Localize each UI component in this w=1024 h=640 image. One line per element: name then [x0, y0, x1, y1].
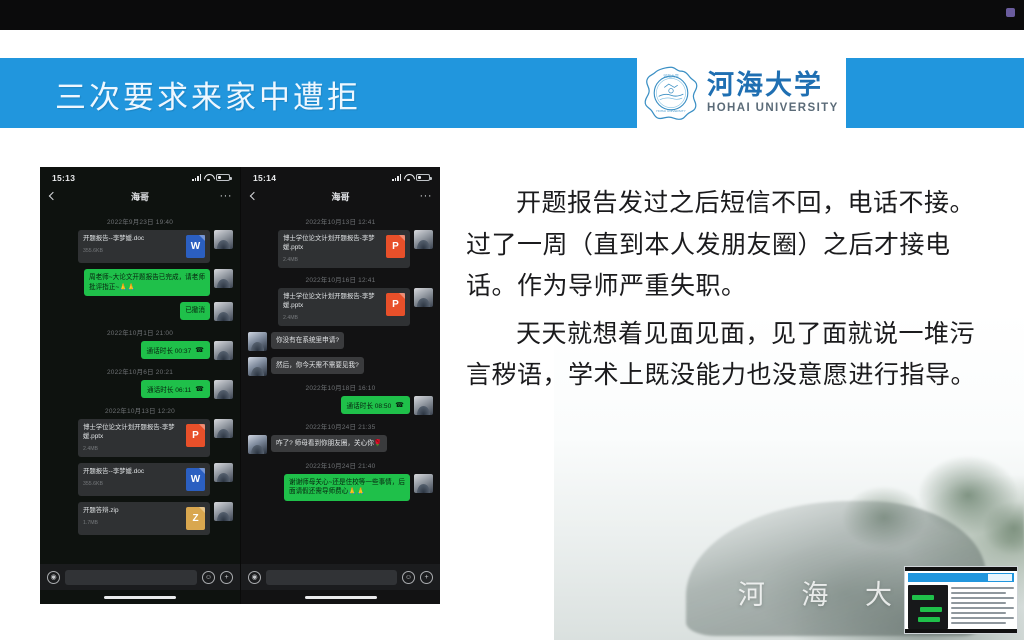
contact-name: 海哥 [241, 190, 440, 203]
avatar [248, 435, 267, 454]
avatar [214, 463, 233, 482]
message-bubble-received[interactable]: 咋了? 师母看到你朋友圈，关心你🌹 [271, 435, 387, 453]
file-name: 博士学位论文计划开题报告-李梦媛.pptx [283, 293, 381, 311]
date-separator: 2022年9月23日 19:40 [47, 216, 233, 226]
message-input[interactable] [266, 570, 397, 585]
message-row[interactable]: 博士学位论文计划开题报告-李梦媛.pptx 2.4MB P [248, 288, 433, 326]
status-clock: 15:14 [253, 173, 276, 183]
call-duration-bubble[interactable]: 通话时长 06:11 ☎ [141, 380, 210, 398]
message-bubble-sent[interactable]: 谢谢师母关心~还是住校等一些事情，后面请假还需导师费心🙏🙏 [284, 474, 410, 501]
stone-watermark-text: 河 海 大 [738, 573, 906, 612]
message-row[interactable]: 已撤消 [47, 302, 233, 321]
university-seal-icon: 河海大学 HOHAI UNIVERSITY [643, 65, 699, 121]
phone-screenshot-right: 15:14 海哥 ··· 2022年10月13日 12:41 [240, 167, 440, 604]
word-file-icon: W [186, 235, 205, 258]
wifi-icon [404, 174, 413, 181]
thumbnail-title-band [908, 573, 1014, 582]
thumbnail-text-lines [951, 585, 1014, 629]
zip-file-icon: Z [186, 507, 205, 530]
logo-chinese-name: 河海大学 [707, 72, 823, 100]
file-name: 开题报告--李梦媛.doc [83, 235, 181, 244]
call-duration-text: 通话时长 06:11 [147, 384, 191, 394]
thumbnail-chat-image [908, 585, 948, 629]
avatar [414, 474, 433, 493]
file-message[interactable]: 开题答辩.zip 1.7MB Z [78, 502, 210, 535]
university-logo: 河海大学 HOHAI UNIVERSITY 河海大学 HOHAI UNIVERS… [637, 58, 846, 128]
avatar [248, 332, 267, 351]
message-thread[interactable]: 2022年10月13日 12:41 博士学位论文计划开题报告-李梦媛.pptx … [241, 207, 440, 579]
message-row[interactable]: 通话时长 08:50 ☎ [248, 396, 433, 415]
recording-top-bar [0, 0, 1024, 30]
message-bubble-received[interactable]: 你没有在系统里申请? [271, 332, 344, 350]
phone-icon: ☎ [395, 401, 404, 409]
background-trees [824, 435, 1024, 585]
word-file-icon: W [186, 468, 205, 491]
message-row[interactable]: 开题报告--李梦媛.doc 355.6KB W [47, 230, 233, 263]
message-row[interactable]: 谢谢师母关心~还是住校等一些事情，后面请假还需导师费心🙏🙏 [248, 474, 433, 501]
emoji-icon[interactable]: ☺ [402, 571, 415, 584]
message-row[interactable]: 博士学位论文计划开题报告-李梦媛.pptx 2.4MB P [47, 419, 233, 457]
file-message[interactable]: 开题报告--李梦媛.doc 355.6KB W [78, 230, 210, 263]
file-message[interactable]: 博士学位论文计划开题报告-李梦媛.pptx 2.4MB P [278, 288, 410, 326]
file-message[interactable]: 博士学位论文计划开题报告-李梦媛.pptx 2.4MB P [78, 419, 210, 457]
date-separator: 2022年10月18日 16:10 [248, 382, 433, 392]
message-bubble-recalled[interactable]: 已撤消 [180, 302, 210, 320]
page-title: 三次要求来家中遭拒 [55, 72, 361, 117]
avatar [214, 302, 233, 321]
message-composer[interactable]: ◉ ☺ + [241, 564, 440, 590]
avatar [248, 357, 267, 376]
file-name: 开题报告--李梦媛.doc [83, 468, 181, 477]
message-row[interactable]: 然后，你今天需不需要见我? [248, 357, 433, 376]
message-row[interactable]: 博士学位论文计划开题报告-李梦媛.pptx 2.4MB P [248, 230, 433, 268]
logo-english-name: HOHAI UNIVERSITY [707, 102, 839, 114]
phone-icon: ☎ [195, 385, 204, 393]
screen-recording-frame: 河 海 大 三次要求来家中遭拒 河海大学 HOHAI UNIVERSITY 河海… [0, 0, 1024, 640]
date-separator: 2022年10月16日 12:41 [248, 274, 433, 284]
avatar [214, 419, 233, 438]
add-attachment-icon[interactable]: + [420, 571, 433, 584]
file-size: 2.4MB [83, 446, 181, 452]
thumbnail-bottom-bar [905, 629, 1017, 633]
contact-name: 海哥 [40, 190, 240, 203]
file-size: 2.4MB [283, 257, 381, 263]
chat-navbar: 海哥 ··· [241, 185, 440, 207]
message-bubble-sent[interactable]: 周老师~大论文开题报告已完成，请老师批评指正~🙏🙏 [84, 269, 210, 296]
date-separator: 2022年10月24日 21:40 [248, 460, 433, 470]
date-separator: 2022年10月13日 12:20 [47, 405, 233, 415]
paragraph-2: 天天就想着见面见面，见了面就说一堆污言秽语，学术上既没能力也没意愿进行指导。 [466, 313, 994, 396]
message-row[interactable]: 开题答辩.zip 1.7MB Z [47, 502, 233, 535]
presentation-slide: 河 海 大 三次要求来家中遭拒 河海大学 HOHAI UNIVERSITY 河海… [0, 30, 1024, 640]
signal-icon [392, 174, 401, 181]
voice-icon[interactable]: ◉ [248, 571, 261, 584]
avatar [414, 230, 433, 249]
file-name: 博士学位论文计划开题报告-李梦媛.pptx [83, 424, 181, 442]
avatar [214, 230, 233, 249]
message-bubble-received[interactable]: 然后，你今天需不需要见我? [271, 357, 364, 375]
message-row[interactable]: 通话时长 06:11 ☎ [47, 380, 233, 399]
signal-icon [192, 174, 201, 181]
message-row[interactable]: 咋了? 师母看到你朋友圈，关心你🌹 [248, 435, 433, 454]
emoji-icon[interactable]: ☺ [202, 571, 215, 584]
recording-indicator-icon [1006, 8, 1015, 17]
call-duration-bubble[interactable]: 通话时长 00:37 ☎ [141, 341, 210, 359]
message-row[interactable]: 开题报告--李梦媛.doc 355.6KB W [47, 463, 233, 496]
phone-icon: ☎ [195, 346, 204, 354]
avatar [214, 341, 233, 360]
thumbnail-top-bar [905, 567, 1017, 571]
file-size: 2.4MB [283, 315, 381, 321]
message-composer[interactable]: ◉ ☺ + [40, 564, 240, 590]
chat-screenshot-panel: 15:13 海哥 ··· 2022年9月23日 19:40 [40, 167, 440, 604]
home-indicator [305, 596, 377, 599]
file-size: 355.6KB [83, 248, 181, 254]
battery-icon [416, 174, 430, 181]
powerpoint-file-icon: P [186, 424, 205, 447]
status-clock: 15:13 [52, 173, 75, 183]
chat-navbar: 海哥 ··· [40, 185, 240, 207]
battery-icon [216, 174, 230, 181]
slide-body-text: 开题报告发过之后短信不回，电话不接。过了一周（直到本人发朋友圈）之后才接电话。作… [466, 182, 994, 396]
date-separator: 2022年10月6日 20:21 [47, 366, 233, 376]
avatar [414, 396, 433, 415]
avatar [214, 380, 233, 399]
message-thread[interactable]: 2022年9月23日 19:40 开题报告--李梦媛.doc 355.6KB W [40, 207, 240, 579]
date-separator: 2022年10月1日 21:00 [47, 327, 233, 337]
file-message[interactable]: 博士学位论文计划开题报告-李梦媛.pptx 2.4MB P [278, 230, 410, 268]
message-row[interactable]: 周老师~大论文开题报告已完成，请老师批评指正~🙏🙏 [47, 269, 233, 296]
status-bar: 15:14 [241, 167, 440, 185]
presenter-thumbnail[interactable] [904, 566, 1018, 634]
file-name: 开题答辩.zip [83, 507, 181, 516]
phone-screenshot-left: 15:13 海哥 ··· 2022年9月23日 19:40 [40, 167, 240, 604]
call-duration-bubble[interactable]: 通话时长 08:50 ☎ [341, 396, 410, 414]
date-separator: 2022年10月24日 21:35 [248, 421, 433, 431]
message-input[interactable] [65, 570, 197, 585]
add-attachment-icon[interactable]: + [220, 571, 233, 584]
avatar [414, 288, 433, 307]
voice-icon[interactable]: ◉ [47, 571, 60, 584]
home-indicator [104, 596, 176, 599]
call-duration-text: 通话时长 08:50 [347, 400, 392, 410]
file-size: 1.7MB [83, 520, 181, 526]
date-separator: 2022年10月13日 12:41 [248, 216, 433, 226]
wifi-icon [204, 174, 213, 181]
svg-text:HOHAI UNIVERSITY: HOHAI UNIVERSITY [656, 109, 686, 113]
thumbnail-body [905, 582, 1017, 632]
avatar [214, 269, 233, 288]
paragraph-1: 开题报告发过之后短信不回，电话不接。过了一周（直到本人发朋友圈）之后才接电话。作… [466, 182, 994, 307]
svg-text:河海大学: 河海大学 [663, 73, 679, 78]
powerpoint-file-icon: P [386, 235, 405, 258]
file-name: 博士学位论文计划开题报告-李梦媛.pptx [283, 235, 381, 253]
file-size: 355.6KB [83, 481, 181, 487]
powerpoint-file-icon: P [386, 293, 405, 316]
avatar [214, 502, 233, 521]
file-message[interactable]: 开题报告--李梦媛.doc 355.6KB W [78, 463, 210, 496]
call-duration-text: 通话时长 00:37 [147, 345, 192, 355]
message-row[interactable]: 通话时长 00:37 ☎ [47, 341, 233, 360]
message-row[interactable]: 你没有在系统里申请? [248, 332, 433, 351]
status-bar: 15:13 [40, 167, 240, 185]
